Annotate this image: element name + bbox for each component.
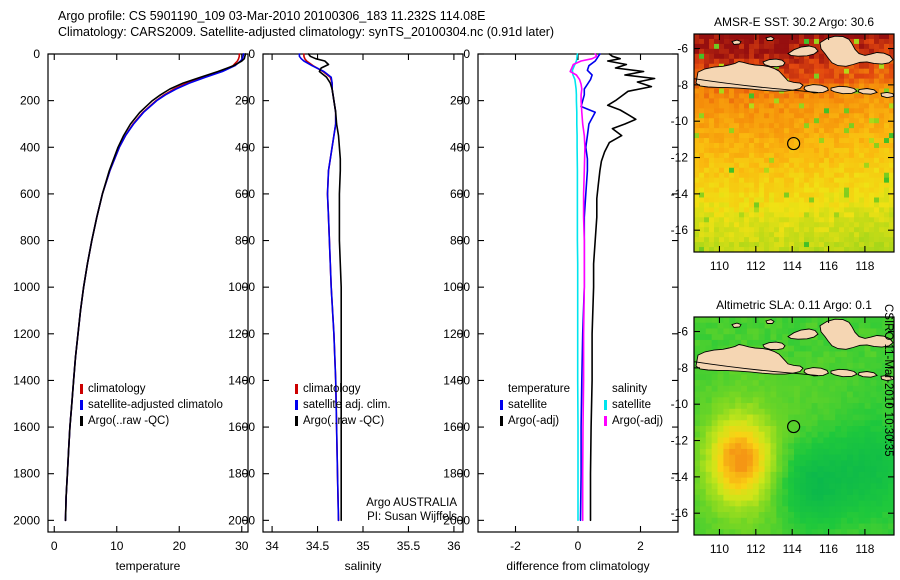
legend-swatch xyxy=(80,384,83,394)
temperature-profile-x-axis-title: temperature xyxy=(116,559,181,573)
map-y-tick-label: -14 xyxy=(671,187,689,201)
legend-swatch xyxy=(500,400,503,410)
x-tick-label: 35.5 xyxy=(397,539,421,553)
y-tick-label: 0 xyxy=(33,47,40,61)
x-tick-label: 34.5 xyxy=(306,539,330,553)
y-tick-label: 1200 xyxy=(443,327,470,341)
map-y-tick-label: -10 xyxy=(671,114,689,128)
x-tick-label: 0 xyxy=(51,539,58,553)
map-y-tick-label: -16 xyxy=(671,506,689,520)
legend-group-header: temperature xyxy=(508,383,570,395)
island-shape xyxy=(732,323,741,327)
sst-map-title: AMSR-E SST: 30.2 Argo: 30.6 xyxy=(714,15,874,29)
map-y-tick-label: -8 xyxy=(677,361,688,375)
y-tick-label: 1600 xyxy=(443,420,470,434)
y-tick-label: 1000 xyxy=(13,280,40,294)
x-tick-label: 20 xyxy=(173,539,187,553)
legend-swatch xyxy=(295,400,298,410)
y-tick-label: 2000 xyxy=(228,513,255,527)
title-line-2: Climatology: CARS2009. Satellite-adjuste… xyxy=(58,24,658,40)
y-tick-label: 1400 xyxy=(443,373,470,387)
x-tick-label: 34 xyxy=(265,539,279,553)
legend-group-header: salinity xyxy=(612,383,647,395)
legend-label: Argo(..raw -QC) xyxy=(303,415,384,427)
y-tick-label: 1800 xyxy=(228,467,255,481)
y-tick-label: 2000 xyxy=(13,513,40,527)
map-x-tick-label: 114 xyxy=(783,542,802,556)
y-tick-label: 800 xyxy=(20,234,40,248)
y-tick-label: 400 xyxy=(20,140,40,154)
y-tick-label: 0 xyxy=(463,47,470,61)
y-tick-label: 200 xyxy=(235,94,255,108)
legend-label: climatology xyxy=(88,383,146,395)
y-tick-label: 1400 xyxy=(228,373,255,387)
legend-swatch xyxy=(80,400,83,410)
map-x-tick-label: 116 xyxy=(819,542,838,556)
y-tick-label: 1800 xyxy=(13,467,40,481)
series-curve xyxy=(591,54,655,520)
map-y-tick-label: -12 xyxy=(671,434,689,448)
series-curve xyxy=(66,54,240,520)
map-x-tick-label: 114 xyxy=(783,259,802,273)
map-x-tick-label: 118 xyxy=(855,542,874,556)
y-tick-label: 1000 xyxy=(228,280,255,294)
y-tick-label: 1800 xyxy=(443,467,470,481)
figure-title: Argo profile: CS 5901190_109 03-Mar-2010… xyxy=(58,8,658,40)
legend-label: Argo(-adj) xyxy=(508,415,559,427)
y-tick-label: 600 xyxy=(235,187,255,201)
legend-swatch xyxy=(604,400,607,410)
x-tick-label: 0 xyxy=(575,539,582,553)
legend-swatch xyxy=(295,416,298,426)
legend-swatch xyxy=(80,416,83,426)
map-x-tick-label: 118 xyxy=(855,259,874,273)
y-tick-label: 2000 xyxy=(443,513,470,527)
map-x-tick-label: 112 xyxy=(746,259,765,273)
y-tick-label: 600 xyxy=(450,187,470,201)
legend-swatch xyxy=(295,384,298,394)
island-shape xyxy=(881,92,894,97)
map-x-tick-label: 116 xyxy=(819,259,838,273)
y-tick-label: 800 xyxy=(235,234,255,248)
csiro-timestamp-text: CSIRO 11-Mar-2010 10:30:35 xyxy=(882,304,894,457)
series-curve xyxy=(572,54,578,520)
series-curve xyxy=(304,54,339,520)
difference-from-climatology-x-axis-title: difference from climatology xyxy=(506,559,649,573)
island-shape xyxy=(763,59,785,67)
legend-swatch xyxy=(604,416,607,426)
map-y-tick-label: -12 xyxy=(671,151,689,165)
map-y-tick-label: -10 xyxy=(671,397,689,411)
y-tick-label: 600 xyxy=(20,187,40,201)
legend-label: satellite adj. clim. xyxy=(303,399,391,411)
sla-map-title: Altimetric SLA: 0.11 Argo: 0.1 xyxy=(716,298,872,312)
map-x-tick-label: 110 xyxy=(710,542,729,556)
y-tick-label: 1200 xyxy=(228,327,255,341)
y-tick-label: 200 xyxy=(20,94,40,108)
legend-label: climatology xyxy=(303,383,361,395)
map-y-tick-label: -16 xyxy=(671,223,689,237)
y-tick-label: 1000 xyxy=(443,280,470,294)
sla-map-panel: Altimetric SLA: 0.11 Argo: 0.11101121141… xyxy=(662,295,900,563)
salinity-profile-x-axis-title: salinity xyxy=(345,559,382,573)
legend-label: satellite xyxy=(612,399,651,411)
map-y-tick-label: -6 xyxy=(677,325,688,339)
map-x-tick-label: 110 xyxy=(710,259,729,273)
y-tick-label: 0 xyxy=(248,47,255,61)
series-curve xyxy=(299,54,338,520)
legend-label: Argo(..raw -QC) xyxy=(88,415,169,427)
map-y-tick-label: -8 xyxy=(677,78,688,92)
y-tick-label: 1600 xyxy=(13,420,40,434)
legend-swatch xyxy=(500,416,503,426)
sst-map-panel: AMSR-E SST: 30.2 Argo: 30.61101121141161… xyxy=(662,12,900,280)
legend-label: satellite xyxy=(508,399,547,411)
title-line-1: Argo profile: CS 5901190_109 03-Mar-2010… xyxy=(58,8,658,24)
y-tick-label: 1600 xyxy=(228,420,255,434)
map-y-tick-label: -6 xyxy=(677,42,688,56)
x-tick-label: 35 xyxy=(356,539,370,553)
y-tick-label: 1200 xyxy=(13,327,40,341)
y-tick-label: 800 xyxy=(450,234,470,248)
y-tick-label: 1400 xyxy=(13,373,40,387)
csiro-timestamp: CSIRO 11-Mar-2010 10:30:35 xyxy=(880,300,898,550)
island-shape xyxy=(732,40,741,44)
y-tick-label: 400 xyxy=(235,140,255,154)
island-shape xyxy=(766,320,774,324)
y-tick-label: 400 xyxy=(450,140,470,154)
y-tick-label: 200 xyxy=(450,94,470,108)
map-x-tick-label: 112 xyxy=(746,542,765,556)
x-tick-label: 2 xyxy=(637,539,644,553)
island-shape xyxy=(766,37,774,41)
legend-label: satellite-adjusted climatolo xyxy=(88,399,223,411)
map-y-tick-label: -14 xyxy=(671,470,689,484)
legend-label: Argo(-adj) xyxy=(612,415,663,427)
x-tick-label: -2 xyxy=(510,539,521,553)
island-shape xyxy=(763,342,785,350)
x-tick-label: 10 xyxy=(110,539,124,553)
